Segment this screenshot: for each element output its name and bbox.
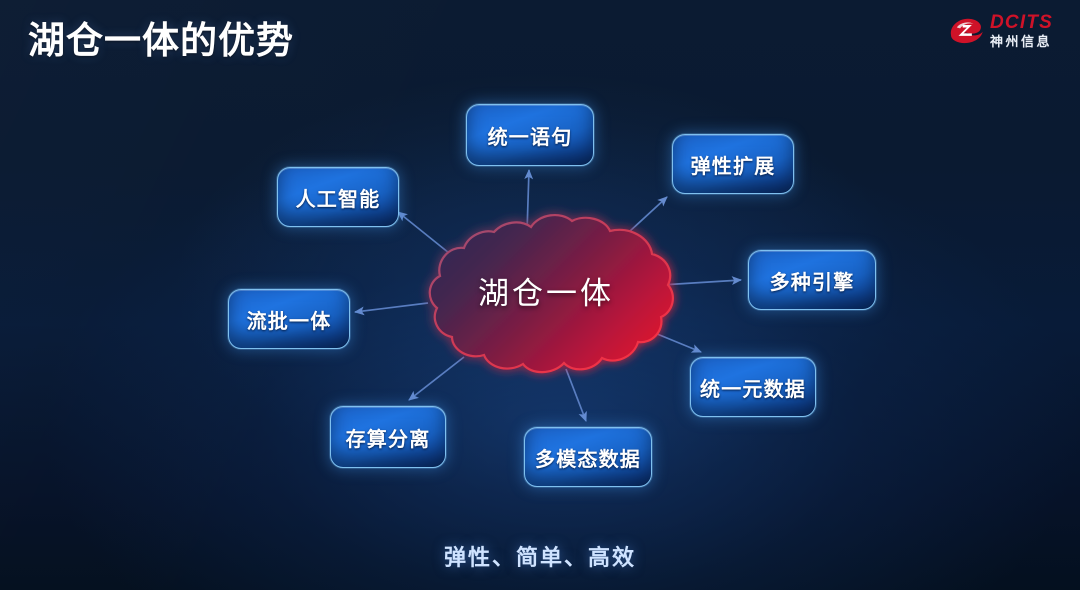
center-node-label: 湖仓一体 (446, 268, 646, 313)
node-label: 多种引擎 (770, 266, 855, 295)
node-label: 弹性扩展 (691, 150, 776, 179)
arrow-to-storage-compute (409, 357, 464, 400)
arrow-to-unified-syntax (527, 170, 529, 232)
slide-canvas: 湖仓一体的优势 DCITS 神州信息 (0, 0, 1080, 590)
node-label: 统一元数据 (700, 373, 806, 402)
arrow-to-elastic-scaling (617, 197, 667, 243)
node-label: 多模态数据 (535, 443, 641, 472)
node-label: 存算分离 (346, 423, 431, 452)
node-label: 人工智能 (296, 183, 381, 212)
page-title: 湖仓一体的优势 (28, 10, 294, 64)
dcits-swoosh-icon (946, 13, 986, 47)
arrow-to-multimodal-data (566, 369, 586, 421)
node-elastic-scaling[interactable]: 弹性扩展 (672, 134, 794, 194)
node-unified-syntax[interactable]: 统一语句 (466, 104, 594, 166)
node-storage-compute-separation[interactable]: 存算分离 (330, 406, 446, 468)
logo-chinese-text: 神州信息 (990, 35, 1053, 48)
node-artificial-intelligence[interactable]: 人工智能 (277, 167, 399, 227)
node-unified-metadata[interactable]: 统一元数据 (690, 357, 816, 417)
node-multimodal-data[interactable]: 多模态数据 (524, 427, 652, 487)
node-multi-engine[interactable]: 多种引擎 (748, 250, 876, 310)
node-label: 流批一体 (247, 305, 332, 334)
node-stream-batch-unified[interactable]: 流批一体 (228, 289, 350, 349)
arrow-to-stream-batch (355, 303, 428, 312)
slide-caption: 弹性、简单、高效 (0, 540, 1080, 572)
brand-logo: DCITS 神州信息 (946, 8, 1068, 52)
arrow-to-artificial-intel (398, 212, 449, 253)
arrow-to-unified-metadata (645, 329, 701, 352)
logo-latin-text: DCITS (990, 13, 1053, 32)
node-label: 统一语句 (488, 121, 573, 150)
arrow-to-multi-engine (661, 280, 741, 285)
